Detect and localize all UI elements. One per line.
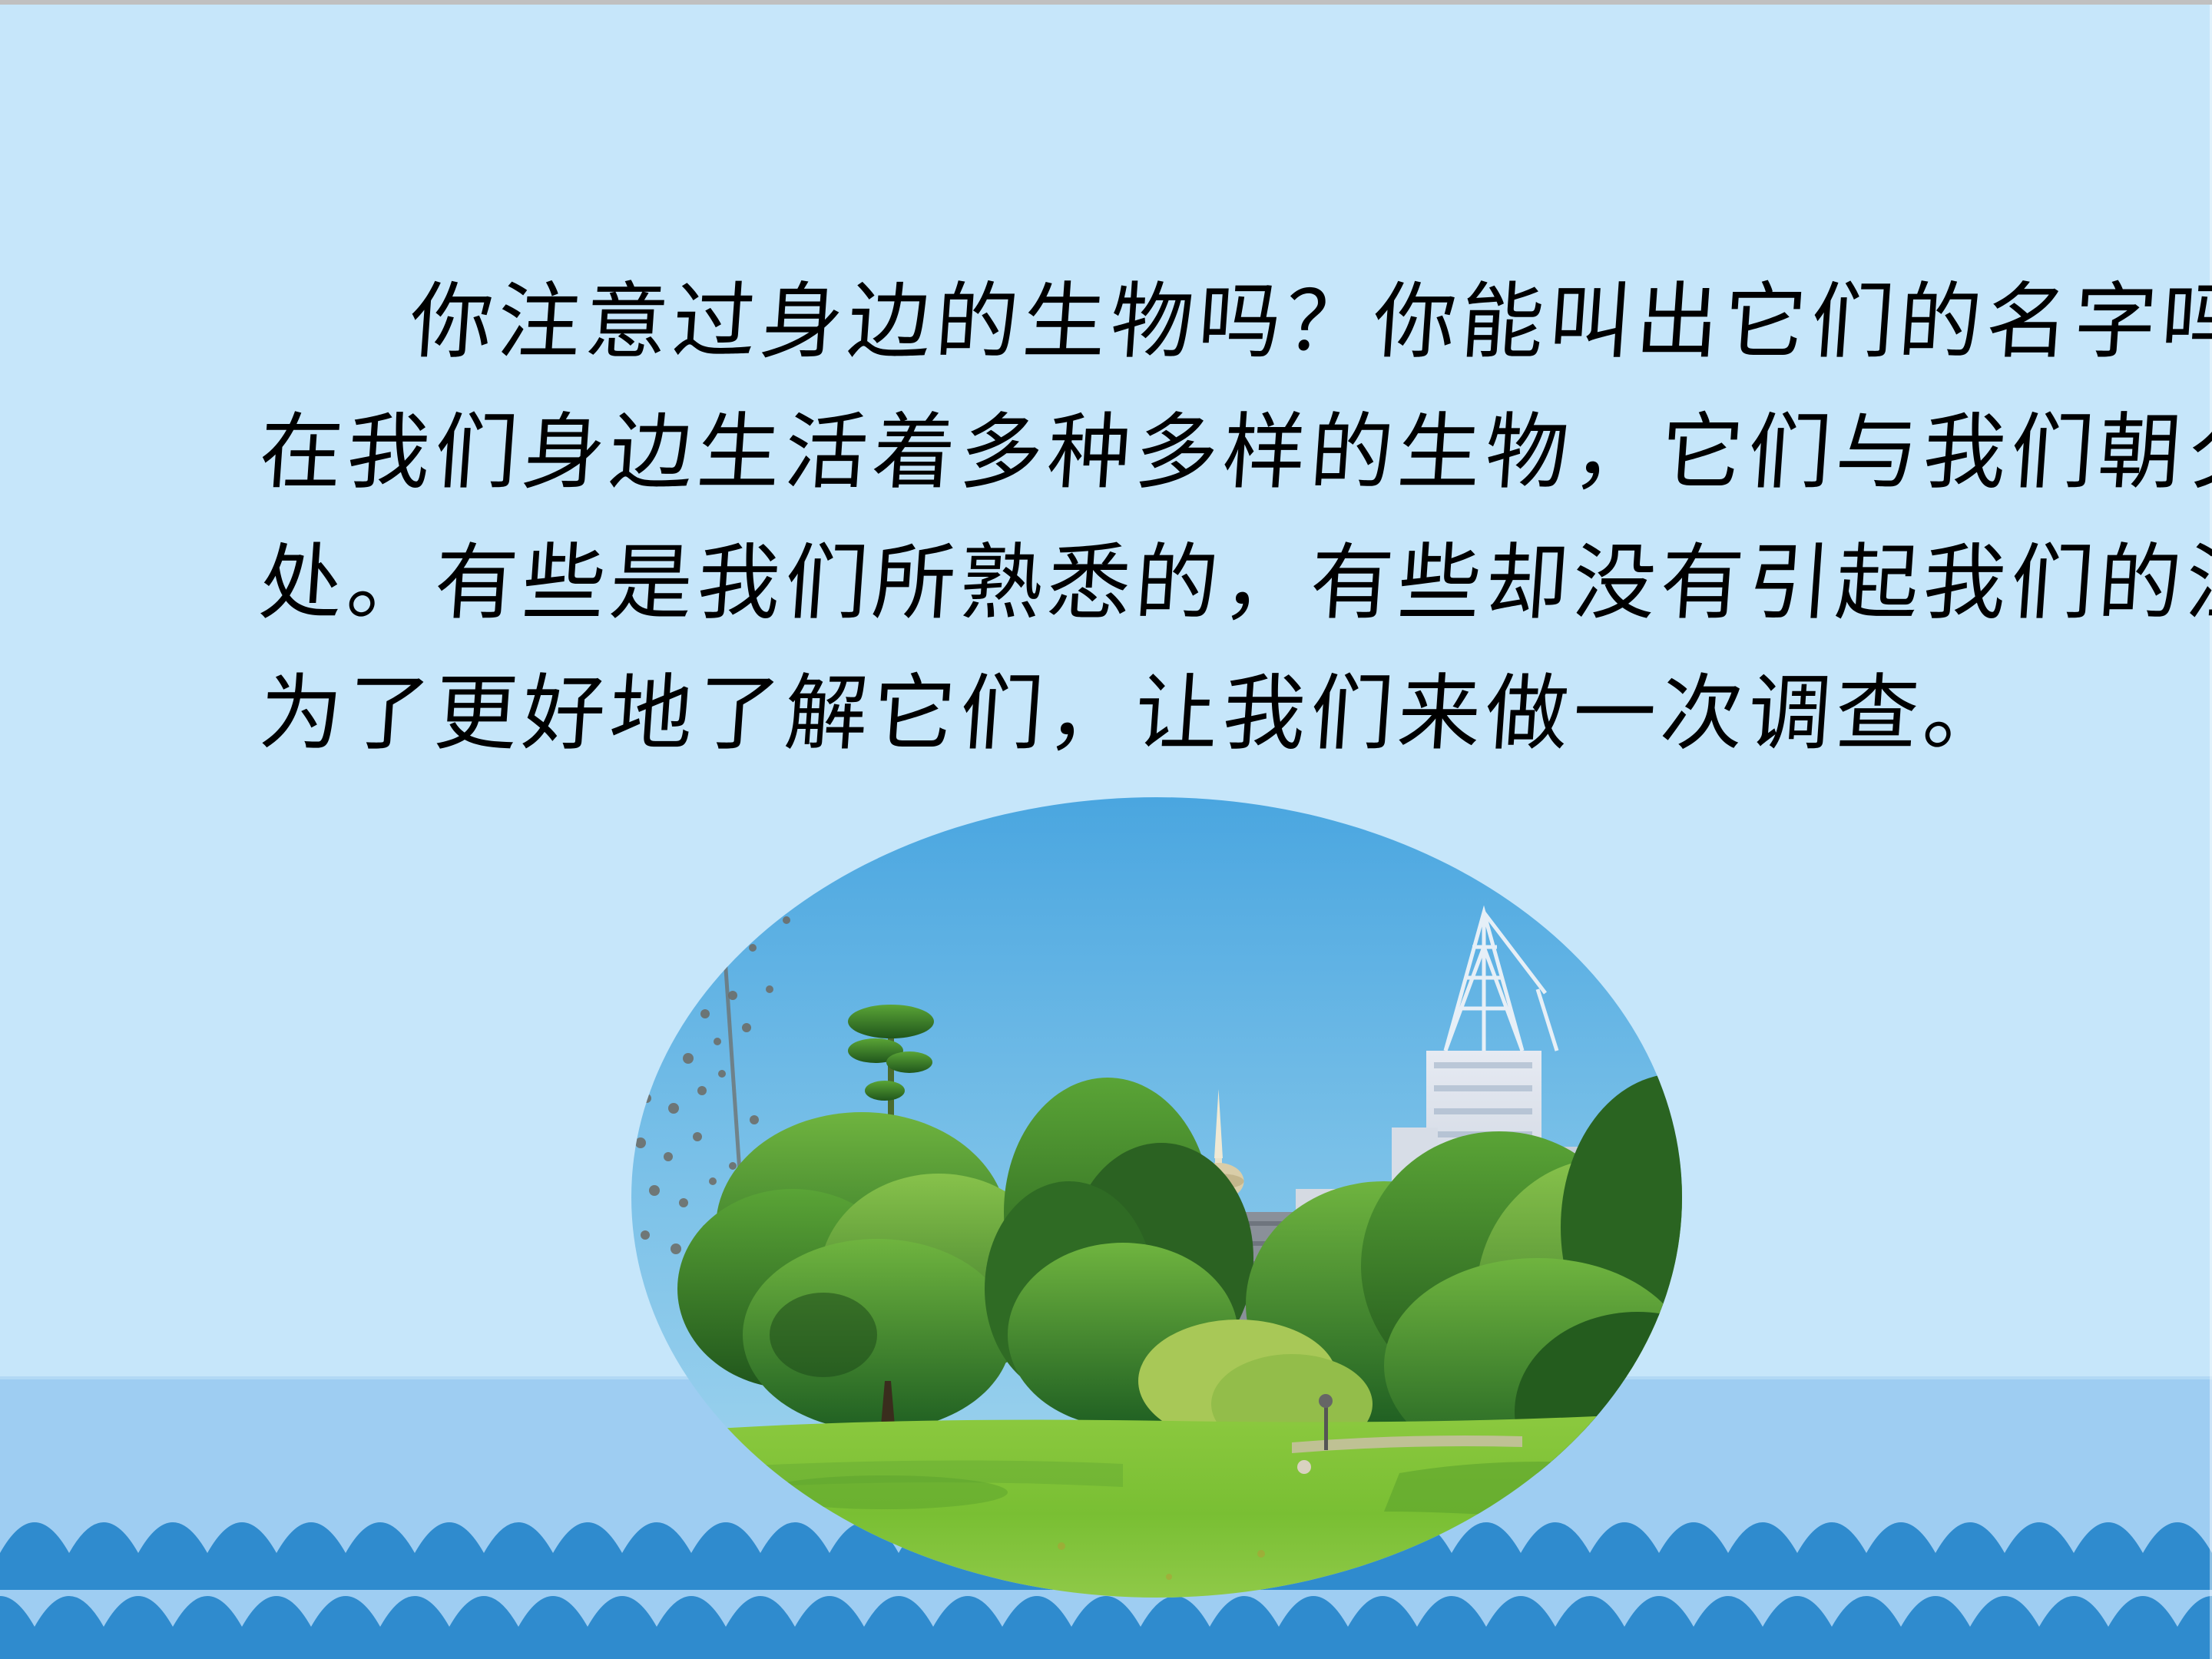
body-text-line-2: 在我们身边生活着多种多样的生物，它们与我们朝夕相 xyxy=(255,389,2031,519)
slide-body-text: 你注意过身边的生物吗？你能叫出它们的名字吗？ 在我们身边生活着多种多样的生物，它… xyxy=(255,258,2022,780)
slide-canvas: 你注意过身边的生物吗？你能叫出它们的名字吗？ 在我们身边生活着多种多样的生物，它… xyxy=(0,0,2212,1659)
body-text-line-3: 处。有些是我们所熟悉的，有些却没有引起我们的注意。 xyxy=(255,519,2031,650)
park-landscape-photo xyxy=(631,797,1682,1598)
scallop-decoration-row-2 xyxy=(0,1588,2212,1659)
body-text-line-1: 你注意过身边的生物吗？你能叫出它们的名字吗？ xyxy=(255,258,2031,389)
body-text-line-4: 为了更好地了解它们，让我们来做一次调查。 xyxy=(255,650,2031,780)
